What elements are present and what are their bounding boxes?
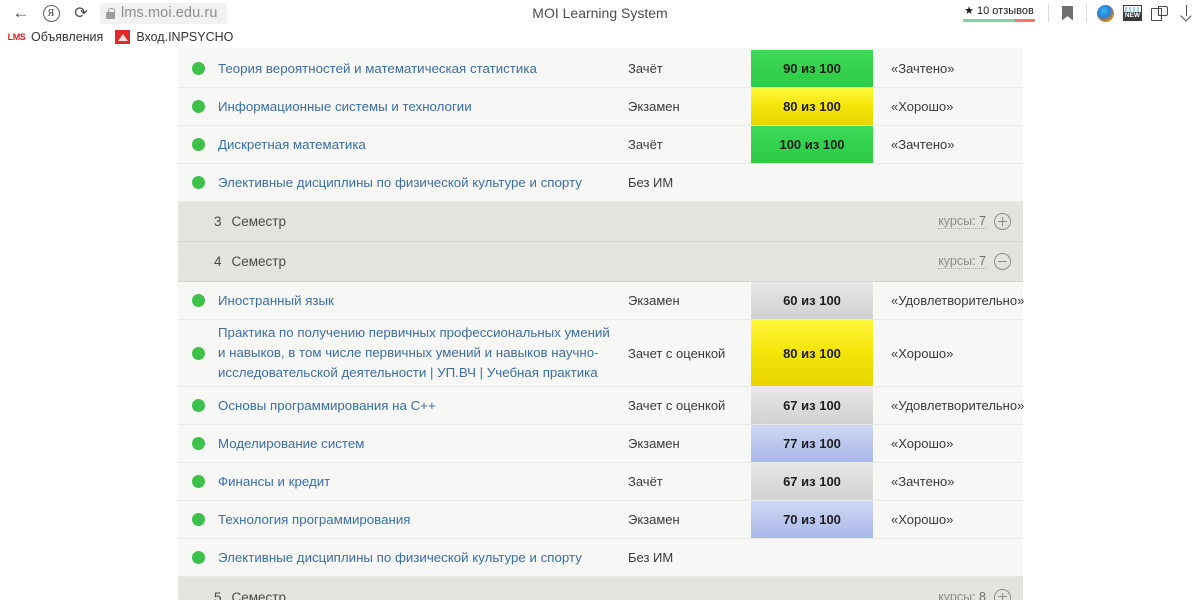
course-row[interactable]: Технология программированияЭкзамен70 из …: [178, 501, 1023, 539]
course-name-cell: Основы программирования на С++: [218, 396, 628, 416]
bookmark-item-announcements[interactable]: LMS Объявления: [5, 27, 112, 47]
course-name-link[interactable]: Элективные дисциплины по физической куль…: [218, 175, 582, 190]
assessment-type-cell: Без ИМ: [628, 550, 751, 565]
grade-label-cell: «Хорошо»: [873, 346, 1023, 361]
semester-header-row[interactable]: 5Семестркурсы: 8: [178, 577, 1023, 600]
status-dot-icon: [192, 437, 205, 450]
bookmark-label: Вход.INPSYCHO: [136, 30, 233, 44]
course-name-link[interactable]: Информационные системы и технологии: [218, 99, 472, 114]
course-name-cell: Финансы и кредит: [218, 472, 628, 492]
semester-label: Семестр: [232, 590, 287, 600]
assessment-type-cell: Экзамен: [628, 512, 751, 527]
status-dot-icon: [192, 551, 205, 564]
status-cell: [178, 62, 218, 75]
status-cell: [178, 513, 218, 526]
course-name-link[interactable]: Теория вероятностей и математическая ста…: [218, 61, 537, 76]
semester-number: 5: [214, 590, 222, 600]
status-cell: [178, 138, 218, 151]
semester-courses-count[interactable]: курсы: 8: [938, 590, 986, 600]
grade-label-cell: «Зачтено»: [873, 474, 1023, 489]
status-dot-icon: [192, 399, 205, 412]
status-dot-icon: [192, 347, 205, 360]
semester-courses-number: 7: [979, 254, 986, 268]
grade-label-cell: «Хорошо»: [873, 99, 1023, 114]
status-cell: [178, 475, 218, 488]
yandex-button[interactable]: Я: [36, 0, 66, 26]
status-cell: [178, 399, 218, 412]
reviews-rating-bar: [963, 19, 1035, 22]
course-name-link[interactable]: Элективные дисциплины по физической куль…: [218, 550, 582, 565]
course-name-link[interactable]: Моделирование систем: [218, 436, 364, 451]
course-row[interactable]: Основы программирования на С++Зачет с оц…: [178, 387, 1023, 425]
assessment-type-cell: Зачёт: [628, 474, 751, 489]
status-cell: [178, 437, 218, 450]
score-badge: 90 из 100: [751, 50, 873, 87]
grade-label-cell: «Удовлетворительно»: [873, 398, 1024, 413]
course-name-link[interactable]: Дискретная математика: [218, 137, 366, 152]
reviews-widget[interactable]: ★ 10 отзывов: [955, 2, 1043, 24]
course-name-cell: Технология программирования: [218, 510, 628, 530]
course-name-link[interactable]: Финансы и кредит: [218, 474, 330, 489]
score-badge: 77 из 100: [751, 425, 873, 462]
course-row[interactable]: Моделирование системЭкзамен77 из 100«Хор…: [178, 425, 1023, 463]
course-name-cell: Иностранный язык: [218, 291, 628, 311]
semester-label: Семестр: [232, 214, 287, 229]
assessment-type-cell: Зачёт: [628, 61, 751, 76]
expand-plus-icon[interactable]: [994, 589, 1011, 600]
status-dot-icon: [192, 475, 205, 488]
course-name-cell: Теория вероятностей и математическая ста…: [218, 59, 628, 79]
status-cell: [178, 100, 218, 113]
grade-label-cell: «Удовлетворительно»: [873, 293, 1024, 308]
course-name-link[interactable]: Технология программирования: [218, 512, 410, 527]
semester-header-row[interactable]: 4Семестркурсы: 7: [178, 242, 1023, 282]
course-row[interactable]: Элективные дисциплины по физической куль…: [178, 539, 1023, 577]
lms-favicon-icon: LMS: [8, 31, 25, 44]
semester-number: 4: [214, 254, 222, 269]
yandex-logo-icon: Я: [43, 5, 60, 22]
semester-courses-count[interactable]: курсы: 7: [938, 254, 986, 269]
status-dot-icon: [192, 176, 205, 189]
page-body: Теория вероятностей и математическая ста…: [0, 48, 1200, 600]
grade-label-cell: «Хорошо»: [873, 436, 1023, 451]
course-name-cell: Элективные дисциплины по физической куль…: [218, 173, 628, 193]
assessment-type-cell: Экзамен: [628, 436, 751, 451]
status-dot-icon: [192, 62, 205, 75]
course-name-cell: Моделирование систем: [218, 434, 628, 454]
status-dot-icon: [192, 138, 205, 151]
course-name-link[interactable]: Иностранный язык: [218, 293, 334, 308]
download-icon[interactable]: [1173, 1, 1200, 25]
semester-header-row[interactable]: 3Семестркурсы: 7: [178, 202, 1023, 242]
reviews-label: 10 отзывов: [977, 5, 1034, 17]
status-cell: [178, 347, 218, 360]
semester-meta: курсы: 7: [938, 213, 1011, 230]
course-row[interactable]: Элективные дисциплины по физической куль…: [178, 164, 1023, 202]
score-badge: 67 из 100: [751, 387, 873, 424]
new-badge-extension-icon[interactable]: NEW: [1119, 1, 1146, 25]
course-row[interactable]: Теория вероятностей и математическая ста…: [178, 50, 1023, 88]
course-row[interactable]: Иностранный языкЭкзамен60 из 100«Удовлет…: [178, 282, 1023, 320]
semester-number: 3: [214, 214, 222, 229]
lock-icon: [106, 8, 115, 19]
toolbar-right-group: ★ 10 отзывов NEW: [955, 0, 1200, 26]
star-icon: ★: [964, 4, 974, 17]
inpsycho-favicon-icon: [115, 30, 130, 44]
pocket-extension-icon[interactable]: [1146, 1, 1173, 25]
score-badge: [751, 164, 873, 201]
course-name-cell: Дискретная математика: [218, 135, 628, 155]
score-badge: 100 из 100: [751, 126, 873, 163]
course-row[interactable]: Дискретная математикаЗачёт100 из 100«Зач…: [178, 126, 1023, 164]
bookmark-label: Объявления: [31, 30, 103, 44]
grade-label-cell: «Зачтено»: [873, 61, 1023, 76]
bookmark-flag-icon[interactable]: [1054, 1, 1081, 25]
status-dot-icon: [192, 100, 205, 113]
collapse-minus-icon[interactable]: [994, 253, 1011, 270]
semester-courses-number: 8: [979, 590, 986, 600]
score-badge: 67 из 100: [751, 463, 873, 500]
assessment-type-cell: Зачет с оценкой: [628, 346, 751, 361]
gradebook-table: Теория вероятностей и математическая ста…: [178, 48, 1023, 600]
semester-meta: курсы: 8: [938, 589, 1011, 600]
course-name-cell: Информационные системы и технологии: [218, 97, 628, 117]
semester-label: Семестр: [232, 254, 287, 269]
reload-button[interactable]: ⟳: [66, 0, 96, 26]
browser-chrome: ← Я ⟳ lms.moi.edu.ru MOI Learning System…: [0, 0, 1200, 48]
orb-extension-icon[interactable]: [1092, 1, 1119, 25]
grade-label-cell: «Хорошо»: [873, 512, 1023, 527]
url-text: lms.moi.edu.ru: [121, 5, 218, 21]
course-name-link[interactable]: Основы программирования на С++: [218, 398, 436, 413]
score-badge: 80 из 100: [751, 320, 873, 386]
assessment-type-cell: Без ИМ: [628, 175, 751, 190]
status-cell: [178, 294, 218, 307]
semester-courses-count[interactable]: курсы: 7: [938, 214, 986, 229]
course-row[interactable]: Практика по получению первичных професси…: [178, 320, 1023, 387]
grade-label-cell: «Зачтено»: [873, 137, 1023, 152]
semester-courses-number: 7: [979, 214, 986, 228]
assessment-type-cell: Экзамен: [628, 293, 751, 308]
course-row[interactable]: Финансы и кредитЗачёт67 из 100«Зачтено»: [178, 463, 1023, 501]
bookmarks-bar: LMS Объявления Вход.INPSYCHO: [0, 26, 1200, 48]
status-cell: [178, 551, 218, 564]
browser-toolbar: ← Я ⟳ lms.moi.edu.ru MOI Learning System…: [0, 0, 1200, 26]
status-dot-icon: [192, 294, 205, 307]
expand-plus-icon[interactable]: [994, 213, 1011, 230]
course-name-cell: Практика по получению первичных професси…: [218, 323, 628, 383]
toolbar-divider: [1086, 4, 1087, 22]
bookmark-item-inpsycho[interactable]: Вход.INPSYCHO: [112, 27, 242, 47]
score-badge: [751, 539, 873, 576]
status-cell: [178, 176, 218, 189]
semester-meta: курсы: 7: [938, 253, 1011, 270]
address-bar[interactable]: lms.moi.edu.ru: [100, 3, 227, 24]
course-row[interactable]: Информационные системы и технологииЭкзам…: [178, 88, 1023, 126]
score-badge: 80 из 100: [751, 88, 873, 125]
course-name-cell: Элективные дисциплины по физической куль…: [218, 548, 628, 568]
score-badge: 70 из 100: [751, 501, 873, 538]
status-dot-icon: [192, 513, 205, 526]
back-button[interactable]: ←: [6, 0, 36, 26]
toolbar-divider: [1048, 4, 1049, 22]
assessment-type-cell: Экзамен: [628, 99, 751, 114]
score-badge: 60 из 100: [751, 282, 873, 319]
assessment-type-cell: Зачёт: [628, 137, 751, 152]
reviews-line: ★ 10 отзывов: [964, 4, 1034, 17]
course-name-link[interactable]: Практика по получению первичных професси…: [218, 325, 610, 380]
assessment-type-cell: Зачет с оценкой: [628, 398, 751, 413]
